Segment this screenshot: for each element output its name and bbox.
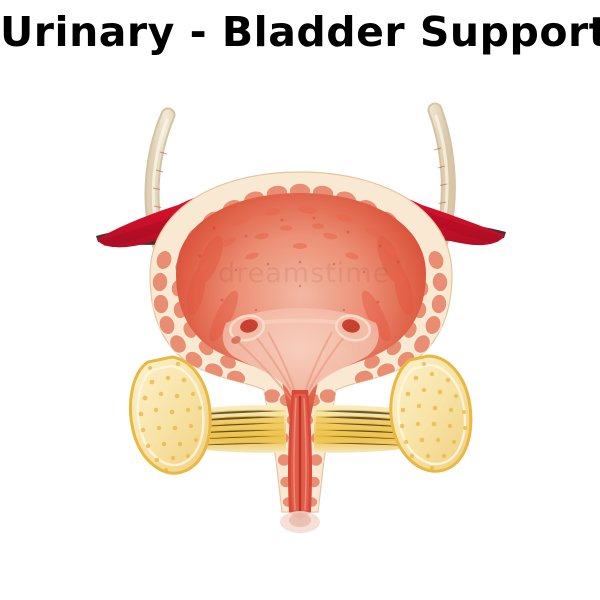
levator-pad-right [391, 356, 471, 471]
bladder-mucosa [176, 193, 426, 420]
bladder-illustration [0, 60, 600, 560]
page-title: Urinary - Bladder Support [0, 4, 600, 60]
illustration-page: Urinary - Bladder Support [0, 0, 600, 600]
levator-pad-left [130, 357, 210, 473]
